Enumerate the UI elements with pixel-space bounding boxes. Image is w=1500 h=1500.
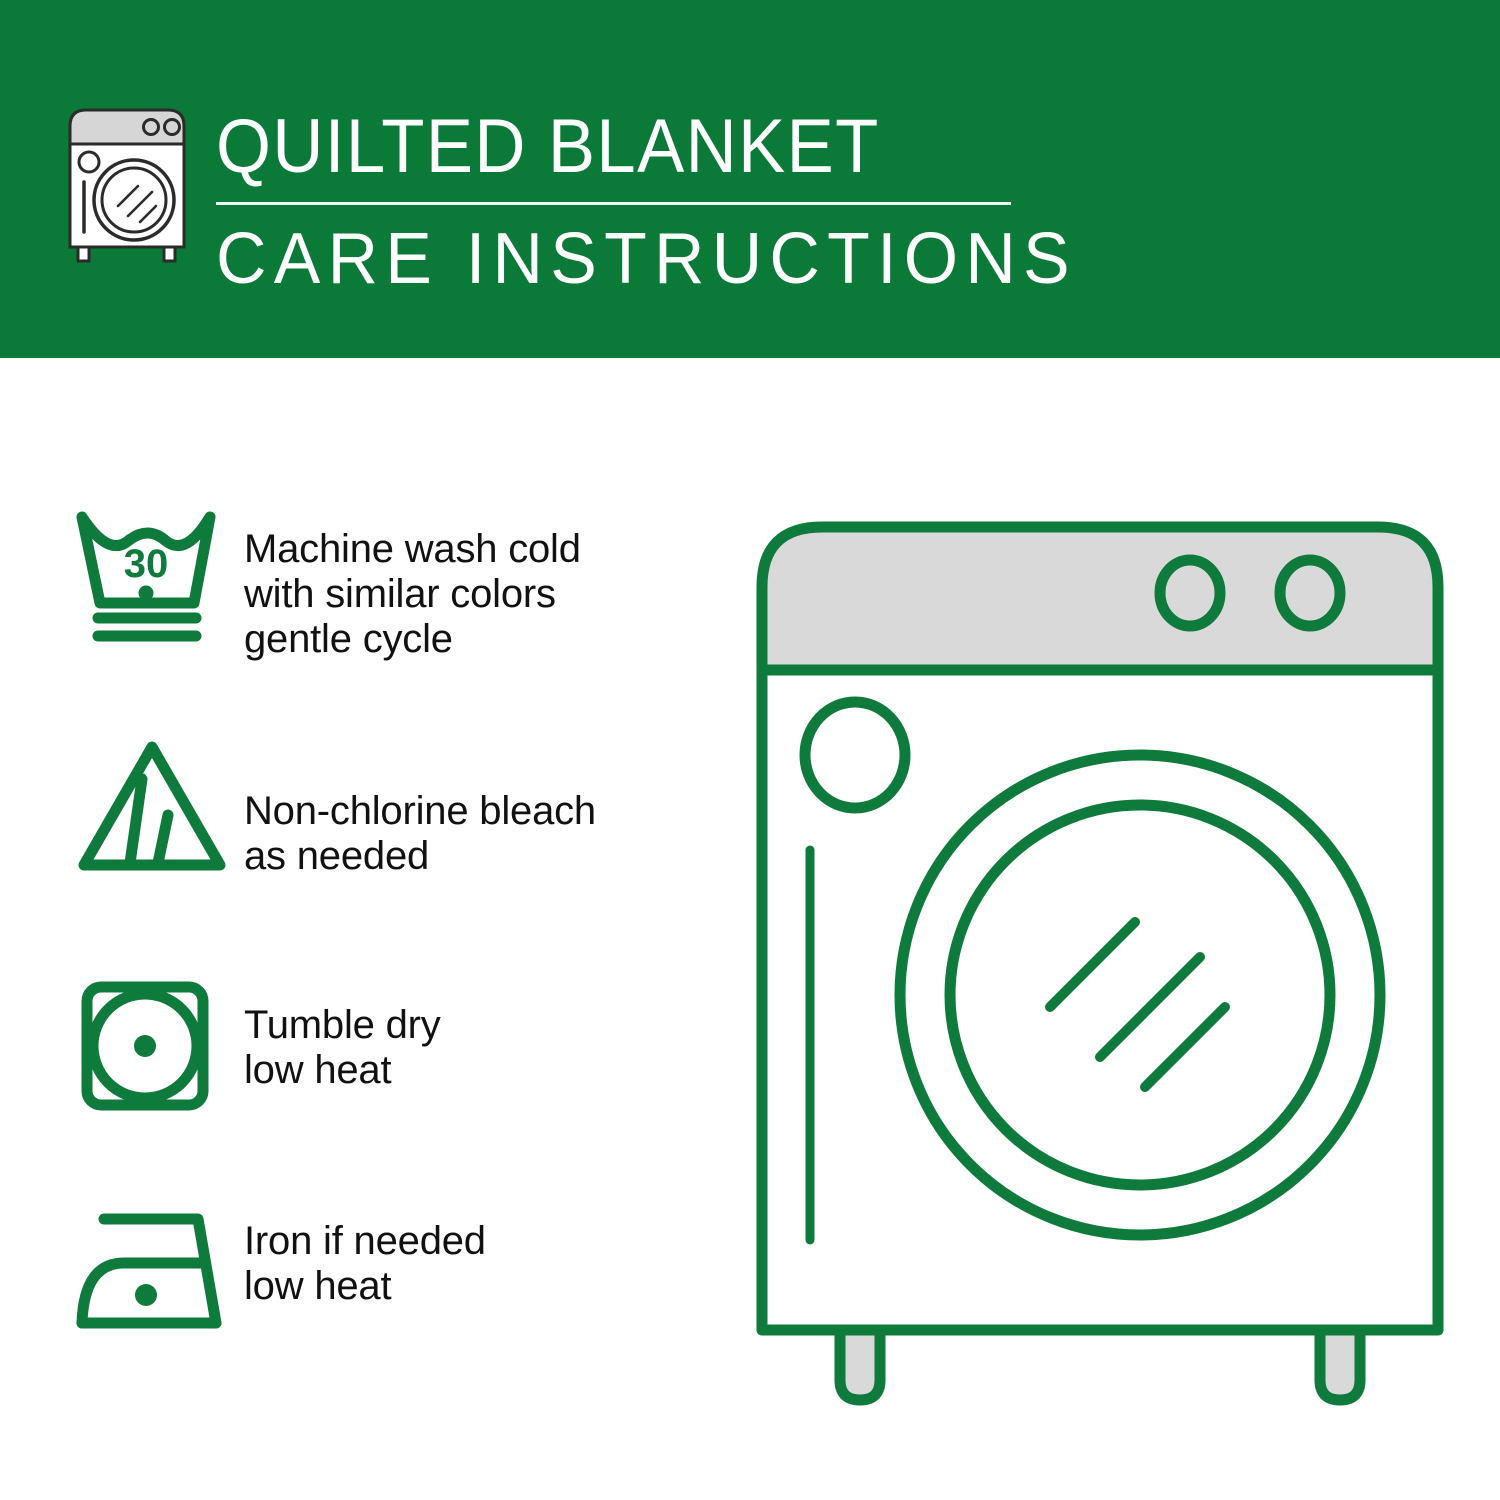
care-instructions-page: QUILTED BLANKET CARE INSTRUCTIONS 30: [0, 0, 1500, 1500]
page-title: QUILTED BLANKET: [216, 104, 979, 190]
care-text-line: Tumble dry: [244, 1003, 441, 1048]
care-item-tumble-dry: Tumble dry low heat: [70, 975, 710, 1115]
header-banner: QUILTED BLANKET CARE INSTRUCTIONS: [0, 0, 1500, 358]
care-text-line: Non-chlorine bleach: [244, 789, 596, 834]
leg-right: [1320, 1330, 1360, 1400]
care-text-line: as needed: [244, 834, 596, 879]
care-text-line: gentle cycle: [244, 617, 581, 662]
care-text-line: Iron if needed: [244, 1219, 486, 1264]
care-text-line: low heat: [244, 1264, 486, 1309]
page-subtitle: CARE INSTRUCTIONS: [216, 219, 1011, 299]
washing-machine-icon: [62, 104, 192, 264]
header-title-group: QUILTED BLANKET CARE INSTRUCTIONS: [216, 104, 1036, 299]
washing-machine-illustration: [740, 495, 1460, 1405]
wash-tub-icon: 30: [70, 505, 240, 645]
care-item-text: Iron if needed low heat: [240, 1197, 486, 1309]
care-text-line: low heat: [244, 1048, 441, 1093]
title-divider: [216, 202, 1011, 205]
bleach-triangle-icon: [70, 737, 240, 877]
care-text-line: with similar colors: [244, 572, 581, 617]
tumble-dry-icon: [70, 975, 240, 1115]
care-item-iron: Iron if needed low heat: [70, 1197, 710, 1337]
wash-temperature-label: 30: [124, 542, 169, 586]
care-item-text: Tumble dry low heat: [240, 975, 441, 1093]
care-item-text: Non-chlorine bleach as needed: [240, 737, 596, 879]
care-text-line: Machine wash cold: [244, 527, 581, 572]
care-item-machine-wash: 30 Machine wash cold with similar colors…: [70, 505, 710, 662]
care-item-text: Machine wash cold with similar colors ge…: [240, 505, 581, 662]
iron-icon: [70, 1197, 240, 1337]
care-item-bleach: Non-chlorine bleach as needed: [70, 737, 710, 879]
leg-left: [840, 1330, 880, 1400]
